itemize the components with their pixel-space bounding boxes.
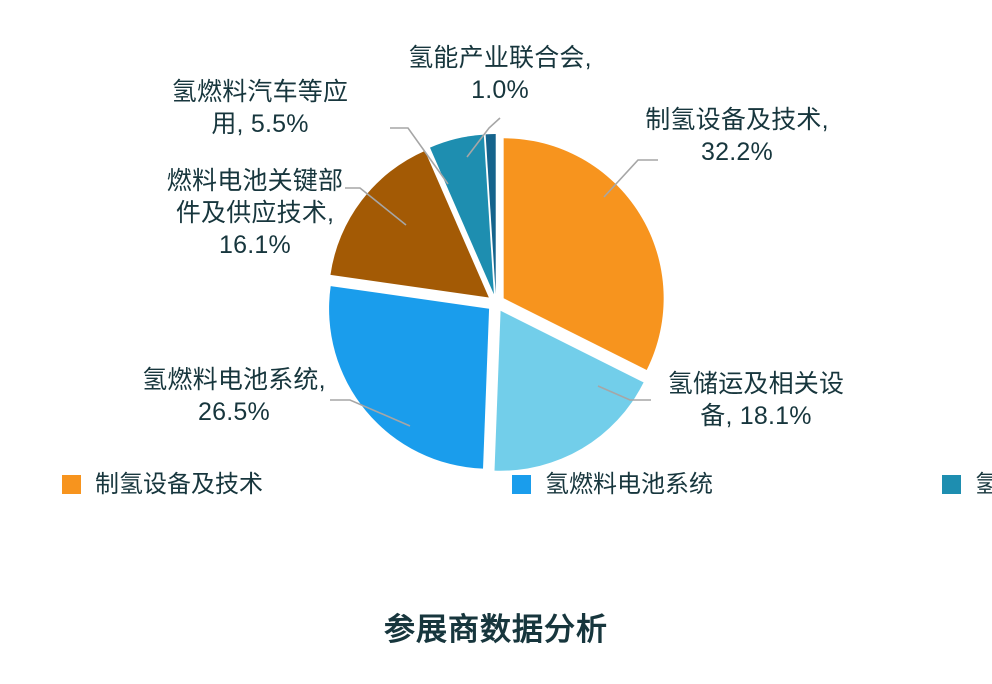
legend-item-label: 氢燃料电池系统 <box>545 473 713 497</box>
legend-item[interactable]: 氢燃料电池系统 <box>512 473 942 497</box>
chart-title: 参展商数据分析 <box>0 604 992 649</box>
data-label-lianhehui: 氢能产业联合会, 1.0% <box>392 42 608 106</box>
legend-swatch-icon <box>512 475 531 494</box>
data-label-zhiqing-shebei: 制氢设备及技术, 32.2% <box>612 104 862 168</box>
data-label-qiche-yingyong: 氢燃料汽车等应 用, 5.5% <box>148 76 372 140</box>
legend-item-label: 制氢设备及技术 <box>95 473 263 497</box>
legend-item-label: 氢燃料汽车等应用 <box>975 473 992 497</box>
chart-legend: 制氢设备及技术氢燃料电池系统氢燃料汽车等应用氢储运及相关设备燃料电池关键部件及供… <box>62 466 942 503</box>
data-label-guanjian-bujian: 燃料电池关键部 件及供应技术, 16.1% <box>140 165 370 261</box>
legend-swatch-icon <box>942 475 961 494</box>
data-label-chuyun-shebei: 氢储运及相关设 备, 18.1% <box>646 368 866 432</box>
legend-item[interactable]: 氢燃料汽车等应用 <box>942 473 992 497</box>
pie-slices-group <box>329 134 664 471</box>
legend-swatch-icon <box>62 475 81 494</box>
pie-chart-figure: 制氢设备及技术, 32.2% 氢储运及相关设 备, 18.1% 氢燃料电池系统,… <box>0 0 992 684</box>
data-label-dianchi-xitong: 氢燃料电池系统, 26.5% <box>112 364 356 428</box>
legend-item[interactable]: 制氢设备及技术 <box>62 473 512 497</box>
